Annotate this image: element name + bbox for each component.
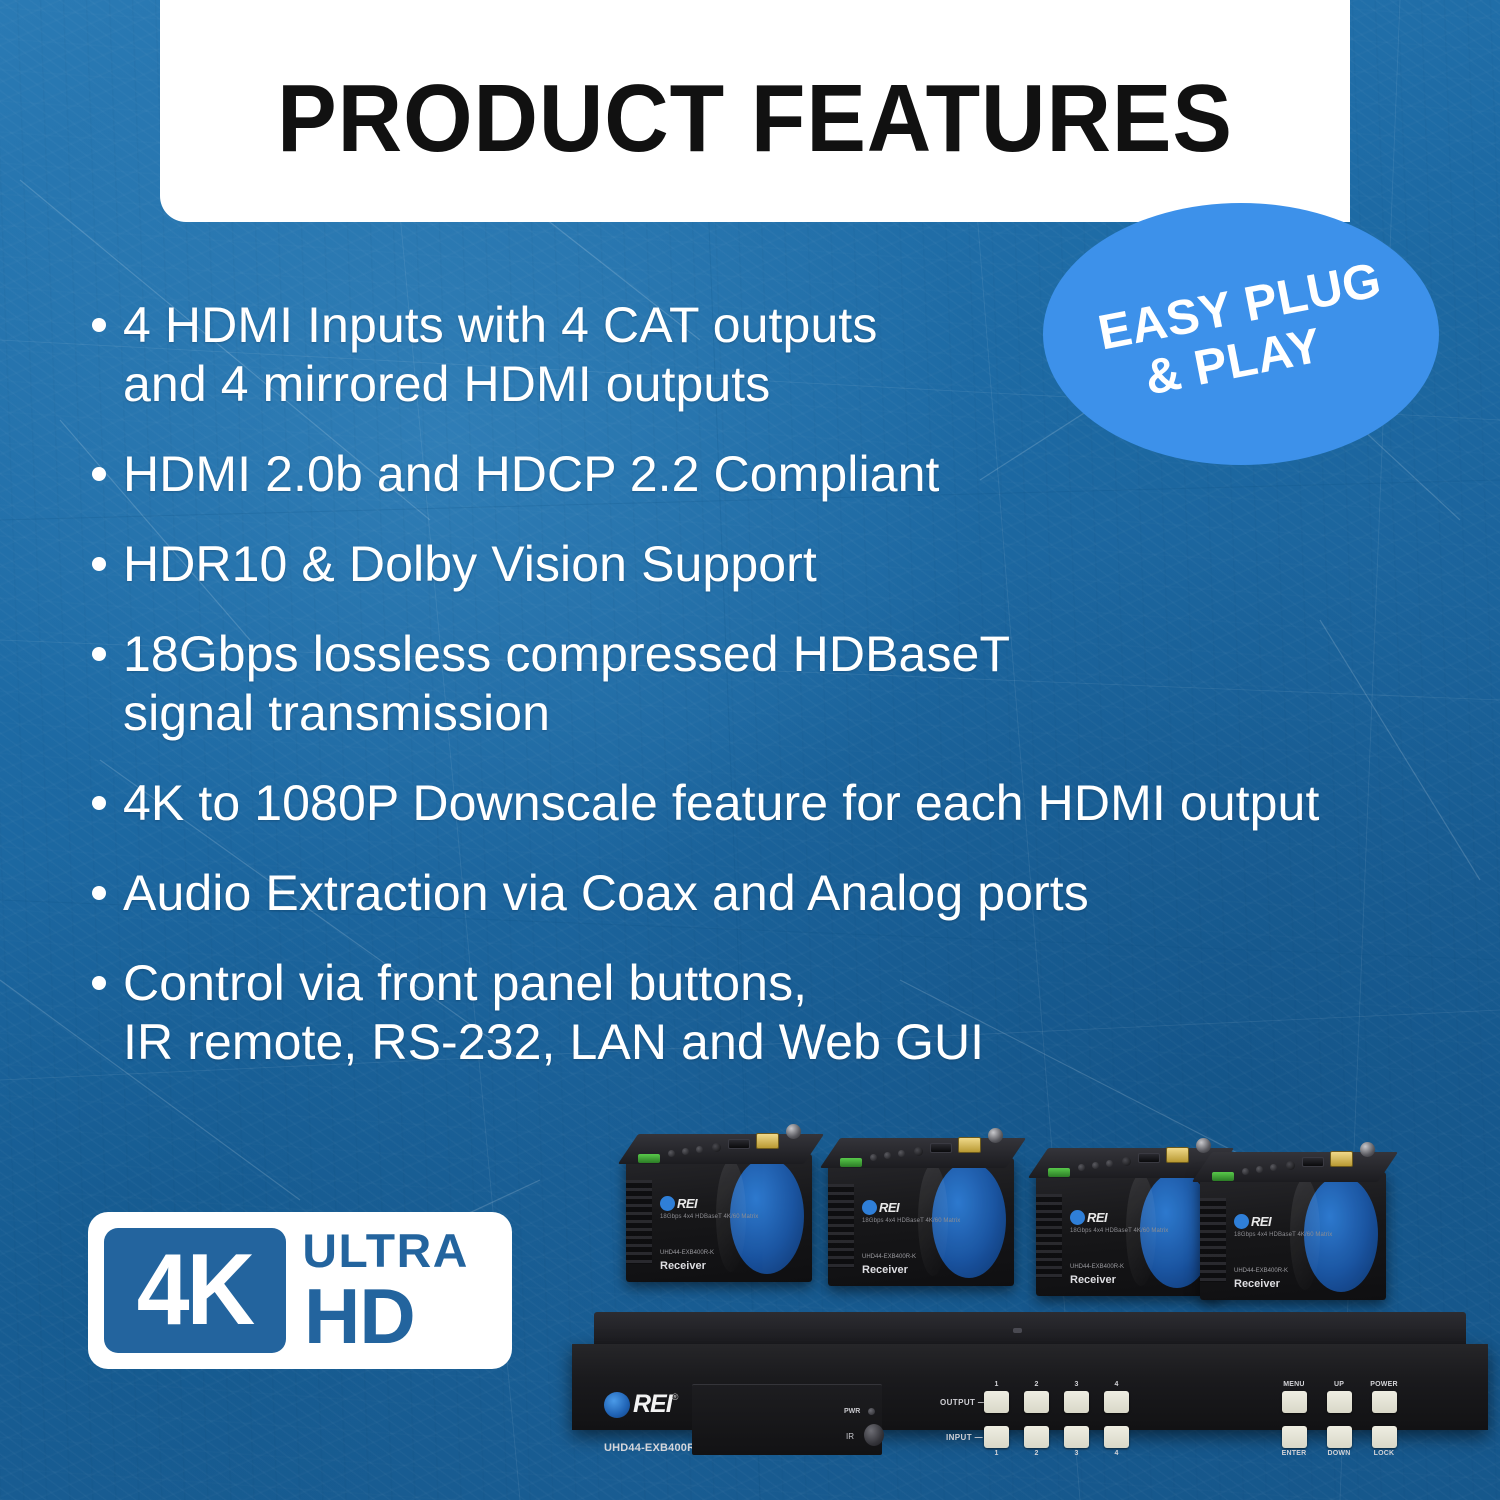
receiver-label: Receiver	[1234, 1278, 1280, 1290]
feature-text: 4 HDMI Inputs with 4 CAT outputs and 4 m…	[123, 296, 877, 414]
receiver-vents	[1036, 1194, 1062, 1278]
receiver-body: REI 18Gbps 4x4 HDBaseT 4K/60 Matrix UHD4…	[1200, 1172, 1386, 1300]
receiver-vents	[626, 1180, 652, 1264]
4k-text: 4K	[137, 1240, 253, 1341]
orei-brand-text: REI	[633, 1390, 672, 1419]
menu-label: MENU	[1279, 1381, 1309, 1388]
down-button[interactable]	[1327, 1426, 1352, 1448]
receiver-button-icon	[898, 1150, 905, 1157]
receiver-label: Receiver	[1070, 1274, 1116, 1286]
input-button-2[interactable]	[1024, 1426, 1049, 1448]
receiver-subtitle: 18Gbps 4x4 HDBaseT 4K/60 Matrix	[1070, 1228, 1168, 1234]
audio-jack-port	[1286, 1161, 1295, 1170]
power-button-label: POWER	[1369, 1381, 1399, 1388]
hdmi-port	[728, 1139, 750, 1149]
enter-button[interactable]	[1282, 1426, 1307, 1448]
receiver-vents	[828, 1184, 854, 1268]
feature-text: 4K to 1080P Downscale feature for each H…	[123, 774, 1319, 833]
orei-brand-text: REI	[879, 1200, 899, 1215]
output-number: 2	[1024, 1381, 1049, 1388]
input-button-4[interactable]	[1104, 1426, 1129, 1448]
receiver-button-icon	[668, 1150, 675, 1157]
hdmi-port	[930, 1143, 952, 1153]
feature-text: Audio Extraction via Coax and Analog por…	[123, 864, 1089, 923]
orei-ring-icon	[660, 1196, 675, 1211]
list-item: 4K to 1080P Downscale feature for each H…	[92, 774, 1432, 833]
antenna-knob	[988, 1128, 1003, 1143]
feature-text: HDR10 & Dolby Vision Support	[123, 535, 817, 594]
receiver-button-icon	[1092, 1162, 1099, 1169]
power-button[interactable]	[1372, 1391, 1397, 1413]
output-button-3[interactable]	[1064, 1391, 1089, 1413]
orei-ring-icon	[862, 1200, 877, 1215]
receiver-body: REI 18Gbps 4x4 HDBaseT 4K/60 Matrix UHD4…	[626, 1154, 812, 1282]
rj45-port	[1330, 1151, 1353, 1167]
orei-brand-text: REI	[677, 1196, 697, 1211]
feature-text: HDMI 2.0b and HDCP 2.2 Compliant	[123, 445, 940, 504]
hdmi-port	[1138, 1153, 1160, 1163]
antenna-knob	[786, 1124, 801, 1139]
input-row-label: INPUT —	[946, 1433, 983, 1442]
receiver-model: UHD44-EXB400R-K	[660, 1250, 714, 1256]
chassis-top-face	[594, 1312, 1466, 1346]
ultra-hd-text-group: ULTRA HD	[304, 1227, 467, 1355]
up-label: UP	[1324, 1381, 1354, 1388]
terminal-block-port	[1048, 1168, 1070, 1177]
orei-ring-icon	[1234, 1214, 1249, 1229]
receiver-ports	[634, 1132, 814, 1166]
input-button-1[interactable]	[984, 1426, 1009, 1448]
bullet-icon	[92, 557, 106, 571]
bullet-icon	[92, 796, 106, 810]
receiver-ports	[1208, 1150, 1388, 1184]
power-led-icon	[868, 1408, 875, 1415]
receiver-model: UHD44-EXB400R-K	[1234, 1268, 1288, 1274]
list-item: HDR10 & Dolby Vision Support	[92, 535, 1432, 594]
receiver-vents	[1200, 1198, 1226, 1282]
receiver-ports	[836, 1136, 1016, 1170]
orei-brand-text: REI	[1087, 1210, 1107, 1225]
input-number: 2	[1024, 1450, 1049, 1457]
output-row-label: OUTPUT —	[940, 1398, 986, 1407]
receiver-button-icon	[870, 1154, 877, 1161]
bullet-icon	[92, 467, 106, 481]
orei-ring-icon	[1070, 1210, 1085, 1225]
receiver-button-icon	[696, 1146, 703, 1153]
receiver-button-icon	[682, 1148, 689, 1155]
ultra-text: ULTRA	[302, 1227, 469, 1274]
input-button-3[interactable]	[1064, 1426, 1089, 1448]
receiver-body: REI 18Gbps 4x4 HDBaseT 4K/60 Matrix UHD4…	[828, 1158, 1014, 1286]
receiver-unit: REI 18Gbps 4x4 HDBaseT 4K/60 Matrix UHD4…	[822, 1124, 1018, 1289]
bullet-icon	[92, 318, 106, 332]
terminal-block-port	[638, 1154, 660, 1163]
output-number: 3	[1064, 1381, 1089, 1388]
terminal-block-port	[1212, 1172, 1234, 1181]
feature-list: 4 HDMI Inputs with 4 CAT outputs and 4 m…	[92, 296, 1432, 1103]
antenna-knob	[1360, 1142, 1375, 1157]
receiver-button-icon	[1270, 1164, 1277, 1171]
audio-jack-port	[1122, 1157, 1131, 1166]
up-button[interactable]	[1327, 1391, 1352, 1413]
product-features-infographic: PRODUCT FEATURES EASY PLUG & PLAY 4 HDMI…	[0, 0, 1500, 1500]
output-button-1[interactable]	[984, 1391, 1009, 1413]
ir-receiver-lens	[864, 1424, 884, 1446]
hdmi-port	[1302, 1157, 1324, 1167]
output-button-4[interactable]	[1104, 1391, 1129, 1413]
output-button-2[interactable]	[1024, 1391, 1049, 1413]
output-number: 1	[984, 1381, 1009, 1388]
rj45-port	[756, 1133, 779, 1149]
orei-ring-icon	[604, 1392, 630, 1418]
receiver-model: UHD44-EXB400R-K	[862, 1254, 916, 1260]
orei-brand-text: REI	[1251, 1214, 1271, 1229]
lock-label: LOCK	[1369, 1450, 1399, 1457]
orei-logo: REI	[1234, 1214, 1271, 1229]
down-label: DOWN	[1324, 1450, 1354, 1457]
receiver-subtitle: 18Gbps 4x4 HDBaseT 4K/60 Matrix	[660, 1214, 758, 1220]
receiver-model: UHD44-EXB400R-K	[1070, 1264, 1124, 1270]
display-window	[692, 1384, 882, 1455]
receiver-label: Receiver	[660, 1260, 706, 1272]
receiver-button-icon	[1242, 1168, 1249, 1175]
bullet-icon	[92, 976, 106, 990]
receiver-subtitle: 18Gbps 4x4 HDBaseT 4K/60 Matrix	[1234, 1232, 1332, 1238]
receiver-button-icon	[1078, 1164, 1085, 1171]
receiver-unit: REI 18Gbps 4x4 HDBaseT 4K/60 Matrix UHD4…	[1194, 1138, 1390, 1303]
feature-text: Control via front panel buttons, IR remo…	[123, 954, 984, 1072]
header-banner: PRODUCT FEATURES	[160, 0, 1350, 222]
input-number: 1	[984, 1450, 1009, 1457]
list-item: Control via front panel buttons, IR remo…	[92, 954, 1432, 1072]
list-item: 18Gbps lossless compressed HDBaseT signa…	[92, 625, 1432, 743]
receiver-button-icon	[1106, 1160, 1113, 1167]
orei-logo: REI	[862, 1200, 899, 1215]
input-number: 4	[1104, 1450, 1129, 1457]
receiver-button-icon	[1256, 1166, 1263, 1173]
receiver-unit: REI 18Gbps 4x4 HDBaseT 4K/60 Matrix UHD4…	[620, 1120, 816, 1285]
orei-logo: REI	[1070, 1210, 1107, 1225]
enter-label: ENTER	[1279, 1450, 1309, 1457]
registered-mark: ®	[672, 1392, 679, 1402]
product-hardware-image: REI 18Gbps 4x4 HDBaseT 4K/60 Matrix UHD4…	[560, 1120, 1500, 1460]
orei-logo: REI	[660, 1196, 697, 1211]
orei-logo: REI ®	[604, 1390, 678, 1419]
page-title: PRODUCT FEATURES	[202, 64, 1309, 174]
4k-badge-box: 4K	[104, 1228, 286, 1353]
chassis-front-panel: REI ® UHD44-EXB400R-K PWR IR OUTPUT — IN…	[572, 1344, 1488, 1430]
output-number: 4	[1104, 1381, 1129, 1388]
audio-jack-port	[712, 1143, 721, 1152]
terminal-block-port	[840, 1158, 862, 1167]
receiver-button-icon	[884, 1152, 891, 1159]
list-item: Audio Extraction via Coax and Analog por…	[92, 864, 1432, 923]
lock-button[interactable]	[1372, 1426, 1397, 1448]
hd-text: HD	[304, 1277, 467, 1355]
list-item: 4 HDMI Inputs with 4 CAT outputs and 4 m…	[92, 296, 1432, 414]
rj45-port	[1166, 1147, 1189, 1163]
menu-button[interactable]	[1282, 1391, 1307, 1413]
bullet-icon	[92, 647, 106, 661]
audio-jack-port	[914, 1147, 923, 1156]
bullet-icon	[92, 886, 106, 900]
power-label: PWR	[844, 1408, 860, 1415]
receiver-subtitle: 18Gbps 4x4 HDBaseT 4K/60 Matrix	[862, 1218, 960, 1224]
input-number: 3	[1064, 1450, 1089, 1457]
rj45-port	[958, 1137, 981, 1153]
feature-text: 18Gbps lossless compressed HDBaseT signa…	[123, 625, 1010, 743]
ir-label: IR	[846, 1432, 854, 1441]
receiver-label: Receiver	[862, 1264, 908, 1276]
4k-ultra-hd-logo: 4K ULTRA HD	[88, 1212, 512, 1369]
matrix-switcher: REI ® UHD44-EXB400R-K PWR IR OUTPUT — IN…	[572, 1312, 1488, 1440]
list-item: HDMI 2.0b and HDCP 2.2 Compliant	[92, 445, 1432, 504]
